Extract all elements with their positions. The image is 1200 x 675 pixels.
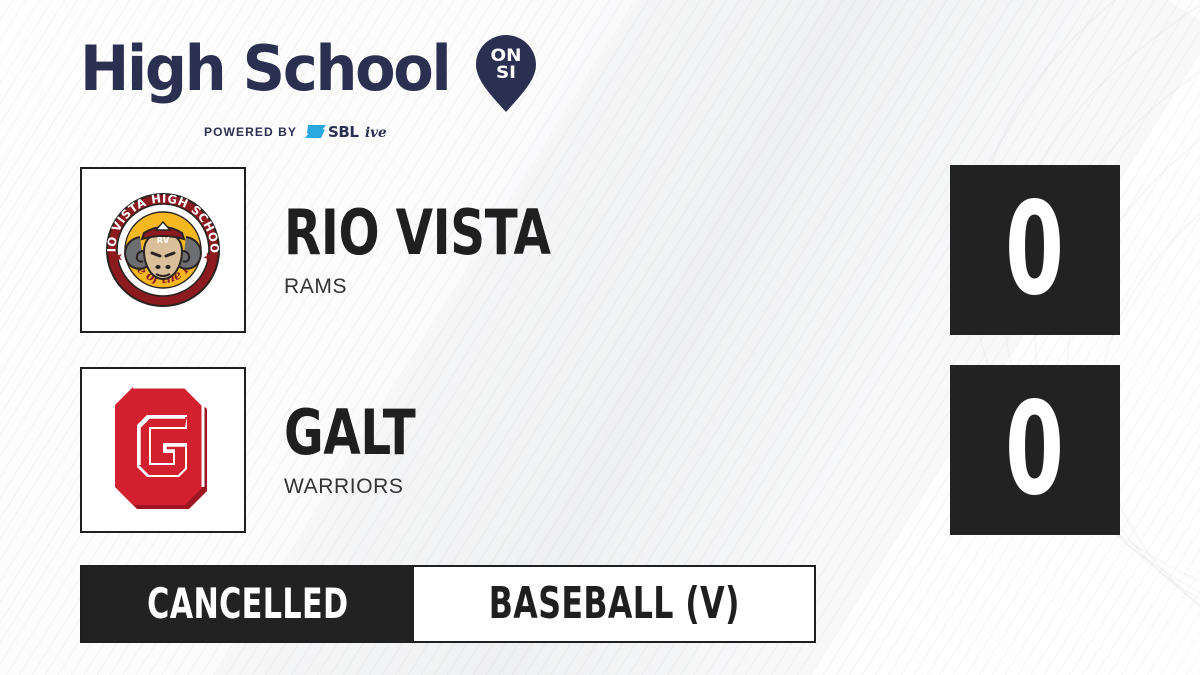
crest-cap-text: RV: [157, 236, 170, 245]
galt-block-g-icon: [103, 385, 223, 515]
team-row-away: GALT WARRIORS: [80, 365, 452, 535]
team-logo-card-galt: [80, 367, 246, 533]
team-logo-card-rio-vista: RIO VISTA HIGH SCHOOL Home of the Rams: [80, 167, 246, 333]
game-status-bar: CANCELLED BASEBALL (V): [80, 565, 816, 643]
score-value: 0: [1006, 386, 1065, 514]
powered-by-row: POWERED BY SBL ive: [204, 122, 537, 141]
sblive-logo: SBL ive: [305, 122, 409, 141]
status-badge-label: CANCELLED: [147, 583, 348, 625]
scoreboard-graphic: High School ON SI POWERED BY SBL ive: [0, 0, 1200, 675]
team-info-rio-vista: RIO VISTA RAMS: [284, 204, 626, 297]
sport-label: BASEBALL (V): [488, 582, 739, 626]
page-title: High School: [80, 38, 449, 100]
score-box-galt: 0: [950, 365, 1120, 535]
on-si-pin-icon: ON SI: [475, 34, 537, 114]
rio-vista-rams-crest-icon: RIO VISTA HIGH SCHOOL Home of the Rams: [88, 175, 238, 325]
svg-text:SBL: SBL: [328, 123, 359, 141]
score-value: 0: [1006, 186, 1065, 314]
team-mascot: RAMS: [284, 276, 626, 297]
team-row-home: RIO VISTA HIGH SCHOOL Home of the Rams: [80, 165, 626, 335]
brand-header: High School ON SI POWERED BY SBL ive: [80, 38, 537, 141]
score-box-rio-vista: 0: [950, 165, 1120, 335]
badge-line-2: SI: [496, 64, 516, 83]
sport-label-container: BASEBALL (V): [414, 567, 815, 641]
status-badge: CANCELLED: [82, 567, 414, 641]
team-name: GALT: [284, 404, 415, 462]
powered-by-label: POWERED BY: [204, 125, 297, 139]
team-info-galt: GALT WARRIORS: [284, 404, 452, 497]
svg-text:ive: ive: [365, 125, 387, 141]
team-mascot: WARRIORS: [284, 476, 452, 497]
team-name: RIO VISTA: [284, 204, 551, 262]
